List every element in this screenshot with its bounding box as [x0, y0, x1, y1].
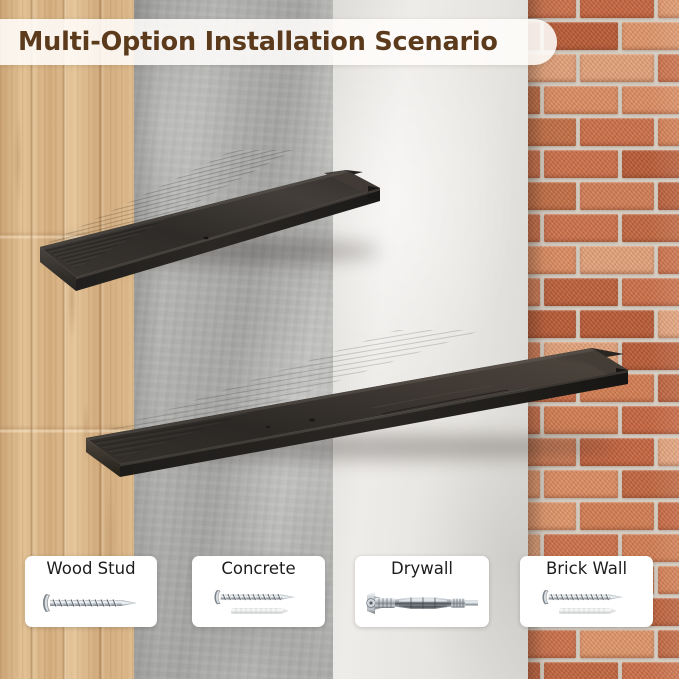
option-card-art — [355, 578, 489, 627]
brick — [658, 246, 679, 274]
option-card-art — [520, 578, 653, 627]
upper-shelf-body — [28, 150, 388, 295]
brick — [622, 22, 679, 50]
brick — [658, 630, 679, 658]
brick — [544, 86, 618, 114]
brick — [622, 278, 679, 306]
brick — [528, 278, 540, 306]
brick — [544, 214, 618, 242]
brick — [528, 118, 576, 146]
brick — [528, 662, 540, 679]
installation-options-row: Wood Stud — [0, 556, 679, 630]
brick — [622, 150, 679, 178]
brick — [658, 310, 679, 338]
brick — [528, 502, 576, 530]
option-card-label: Drywall — [391, 560, 453, 578]
screw-icon — [37, 592, 145, 614]
brick — [658, 182, 679, 210]
lower-shelf — [72, 330, 632, 480]
brick — [580, 502, 654, 530]
brick — [580, 246, 654, 274]
option-card-art — [192, 578, 325, 627]
brick — [580, 630, 654, 658]
brick — [658, 0, 679, 18]
brick — [544, 150, 618, 178]
brick — [622, 86, 679, 114]
brick — [528, 246, 576, 274]
option-card-art — [25, 578, 157, 627]
screw-anchor-icon — [209, 588, 309, 618]
option-card-label: Brick Wall — [546, 560, 627, 578]
brick — [658, 502, 679, 530]
option-card-concrete[interactable]: Concrete — [192, 556, 325, 627]
brick — [622, 214, 679, 242]
molly-bolt-icon — [363, 589, 481, 617]
brick — [580, 54, 654, 82]
brick — [658, 118, 679, 146]
lower-shelf-body — [72, 330, 632, 480]
brick — [528, 630, 576, 658]
screw-anchor-icon — [537, 588, 637, 618]
option-card-label: Wood Stud — [46, 560, 135, 578]
option-card-wood-stud[interactable]: Wood Stud — [25, 556, 157, 627]
option-card-brick-wall[interactable]: Brick Wall — [520, 556, 653, 627]
brick — [622, 662, 679, 679]
product-marketing-image: Multi-Option Installation Scenario Wood … — [0, 0, 679, 679]
upper-shelf — [28, 150, 388, 295]
page-title: Multi-Option Installation Scenario — [18, 27, 498, 57]
brick — [544, 278, 618, 306]
option-card-label: Concrete — [221, 560, 295, 578]
brick — [658, 54, 679, 82]
brick — [658, 438, 679, 466]
brick — [528, 86, 540, 114]
header-banner: Multi-Option Installation Scenario — [0, 19, 557, 65]
brick — [528, 0, 576, 18]
brick — [580, 118, 654, 146]
brick — [528, 214, 540, 242]
brick — [528, 150, 540, 178]
brick — [580, 0, 654, 18]
brick — [580, 182, 654, 210]
option-card-drywall[interactable]: Drywall — [355, 556, 489, 627]
brick — [528, 182, 576, 210]
brick — [658, 374, 679, 402]
brick — [544, 662, 618, 679]
